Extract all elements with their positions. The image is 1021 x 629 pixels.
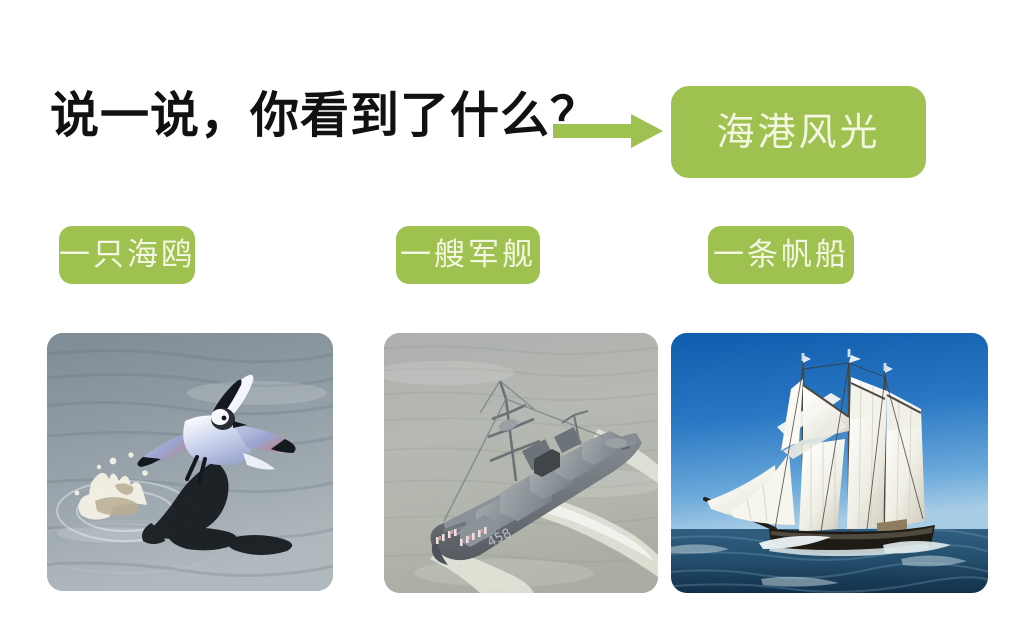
item-badge-sailboat-label: 一条帆船 <box>713 240 849 271</box>
item-badge-seagull[interactable]: 一只海鸥 <box>59 226 195 284</box>
item-badge-seagull-label: 一只海鸥 <box>59 240 195 271</box>
item-badge-warship-label: 一艘军舰 <box>400 240 536 271</box>
page-title: 说一说，你看到了什么？ <box>50 92 600 141</box>
item-badge-sailboat[interactable]: 一条帆船 <box>708 226 854 284</box>
arrow-right-icon <box>553 112 663 150</box>
topic-badge-label: 海港风光 <box>716 113 880 151</box>
seagull-photo <box>47 333 333 591</box>
item-badge-warship[interactable]: 一艘军舰 <box>396 226 540 284</box>
slide-canvas: 说一说，你看到了什么？ 海港风光 一只海鸥 一艘军舰 一条帆船 <box>0 0 1021 629</box>
warship-photo: 458 <box>384 333 658 593</box>
title-row: 说一说，你看到了什么？ 海港风光 <box>0 0 1021 200</box>
sailboat-photo <box>671 333 988 593</box>
topic-badge[interactable]: 海港风光 <box>671 86 926 178</box>
